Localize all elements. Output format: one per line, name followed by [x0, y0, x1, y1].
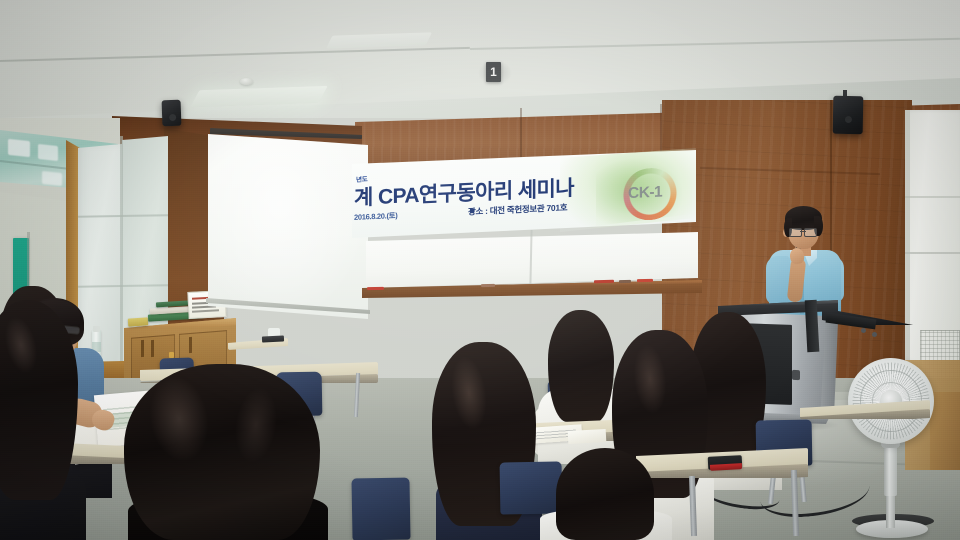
whiteboard-marker[interactable]: [637, 279, 653, 282]
whiteboard-marker[interactable]: [594, 280, 614, 283]
book-stack-small: [128, 317, 149, 326]
slide-highlight-text: 요약: [449, 337, 455, 341]
banner-date: 2016.8.20.(토): [354, 210, 397, 223]
chair[interactable]: [500, 461, 563, 514]
slide-subtitle-bar: 세미나 주요 내용: [448, 316, 546, 332]
glass-reflection-2: [38, 144, 58, 161]
podium-button[interactable]: [792, 370, 800, 380]
glasses-bridge: [800, 231, 806, 232]
slide-table-cell: [432, 349, 454, 354]
cabinet-handle-2[interactable]: [151, 340, 154, 357]
cabinet-handle-3[interactable]: [189, 337, 192, 353]
wall-speaker-right-icon: [833, 96, 864, 135]
rail-fitting: [861, 328, 866, 333]
ceiling-sign-label: 1: [490, 66, 497, 78]
wall-speaker-left-icon: [162, 100, 182, 127]
whiteboard-marker[interactable]: [619, 280, 631, 283]
slide-highlight-box: 요약: [442, 334, 462, 343]
glass-panel-corner: [120, 136, 123, 370]
whiteboard-marker[interactable]: [367, 287, 384, 290]
ceiling-room-number-sign: 1: [486, 62, 501, 82]
slide-subtitle-text: 세미나 주요 내용: [485, 320, 508, 327]
student-hair-foreground-right: [556, 448, 654, 540]
photo-scene: 1: [0, 0, 960, 540]
glass-reflection: [8, 139, 30, 157]
presenter-sleeve-left: [766, 256, 790, 304]
fan-pole-lower: [886, 492, 895, 528]
door-seam: [905, 252, 960, 254]
ck-1-logo: CK-1: [620, 165, 684, 226]
bottle-cap: [93, 326, 100, 332]
student-hair: [548, 310, 614, 422]
glass-reflection-3: [42, 171, 62, 186]
cabinet-handle[interactable]: [141, 340, 144, 357]
right-cabinet-2[interactable]: [930, 392, 960, 470]
screen-projection-glow: [208, 134, 368, 319]
door-seam-2: [905, 196, 960, 198]
chair[interactable]: [351, 477, 410, 540]
rail-fitting-2: [872, 332, 877, 337]
ck-logo-text: CK-1: [628, 182, 686, 203]
document-on-desk-2: [568, 429, 607, 444]
fan-pole-upper[interactable]: [884, 440, 897, 496]
whiteboard-marker[interactable]: [481, 284, 495, 287]
smoke-detector-icon: [240, 78, 253, 85]
object-on-table: [262, 335, 284, 342]
